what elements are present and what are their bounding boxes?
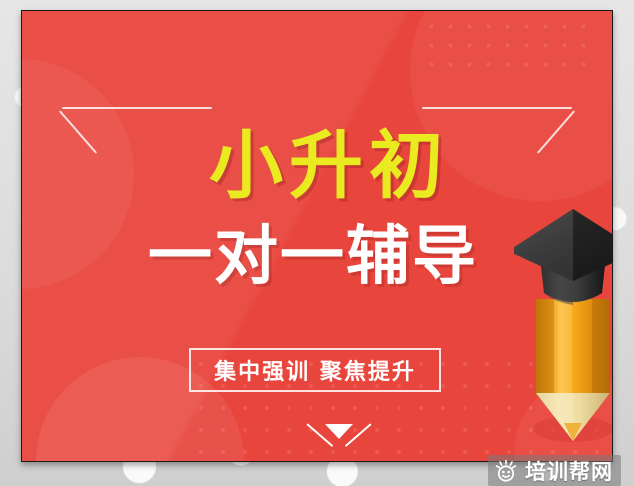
screenshot-canvas: 小升初 一对一辅导 集中强训 聚焦提升 (0, 0, 634, 486)
dot-grid-top (422, 17, 596, 75)
watermark-label: 培训帮网 (525, 456, 613, 486)
site-watermark: 培训帮网 (488, 455, 621, 486)
sun-face-icon (494, 459, 518, 483)
promo-poster[interactable]: 小升初 一对一辅导 集中强训 聚焦提升 (21, 10, 613, 462)
tagline-box: 集中强训 聚焦提升 (189, 348, 441, 392)
graduation-cap-pencil-illustration (514, 207, 612, 443)
tagline-text: 集中强训 聚焦提升 (214, 354, 416, 386)
corner-bracket-right-icon (422, 107, 572, 159)
scroll-down-chevron-icon[interactable] (309, 419, 369, 453)
corner-bracket-left-icon (62, 107, 212, 159)
